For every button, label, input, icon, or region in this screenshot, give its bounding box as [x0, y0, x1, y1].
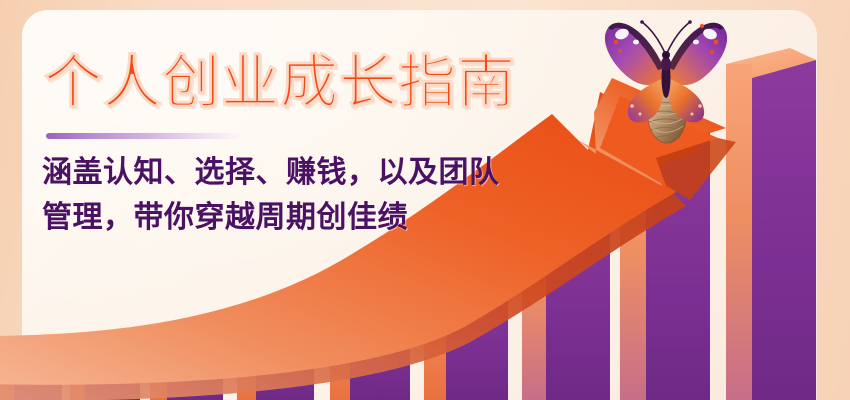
bar-9: [726, 48, 816, 400]
banner-subtitle: 涵盖认知、选择、赚钱，以及团队 管理，带你穿越周期创佳绩: [42, 150, 602, 240]
title-divider: [46, 133, 242, 139]
promo-banner: 个人创业成长指南 涵盖认知、选择、赚钱，以及团队 管理，带你穿越周期创佳绩: [0, 0, 850, 400]
banner-title: 个人创业成长指南: [44, 46, 644, 120]
subtitle-line-1: 涵盖认知、选择、赚钱，以及团队: [42, 150, 602, 195]
subtitle-line-2: 管理，带你穿越周期创佳绩: [42, 195, 602, 240]
